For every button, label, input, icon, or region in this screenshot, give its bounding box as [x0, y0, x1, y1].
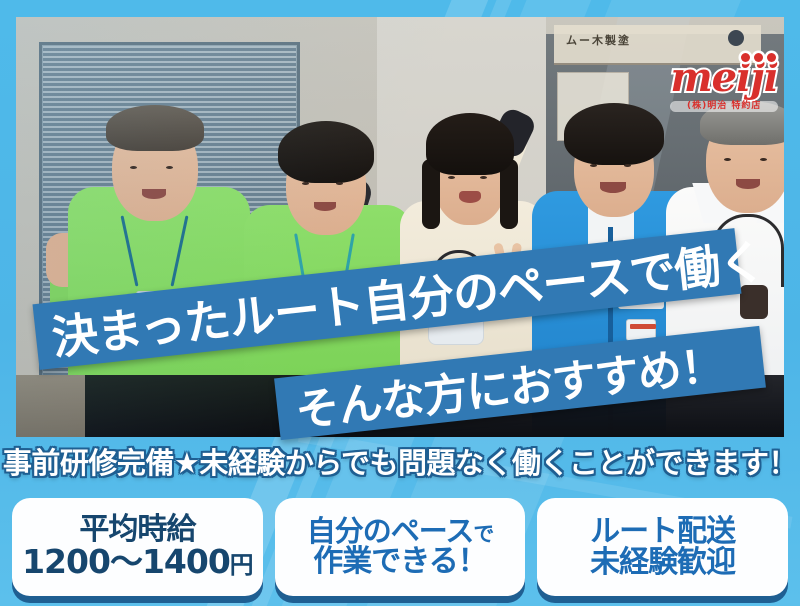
person-4-eye	[624, 164, 631, 167]
person-1-eye	[166, 166, 173, 169]
feature-card-route-line2: 未経験歓迎	[590, 547, 735, 578]
person-3-eye	[480, 176, 487, 179]
person-4-hair	[564, 103, 664, 165]
ground-patch	[16, 375, 85, 437]
own-pace-main: 自分のペース	[307, 514, 474, 548]
feature-card-route-line1: ルート配送	[590, 516, 735, 547]
person-2-mouth	[314, 202, 336, 211]
person-5-mouth	[736, 179, 760, 189]
wage-unit: 円	[230, 551, 253, 579]
recruitment-ad-banner: ムー木製塗	[0, 0, 800, 606]
person-3-hair	[426, 113, 514, 175]
person-1-eye	[130, 166, 137, 169]
feature-card-route-delivery[interactable]: ルート配送 未経験歓迎	[537, 498, 788, 596]
feature-card-wage-line1: 平均時給	[79, 514, 195, 545]
own-pace-suffix: で	[473, 522, 493, 546]
feature-card-own-pace[interactable]: 自分のペースで 作業できる！	[275, 498, 526, 596]
feature-card-wage-line2: 1200〜1400円	[22, 545, 252, 579]
person-5-eye	[724, 158, 731, 161]
person-4-mouth	[600, 182, 626, 193]
feature-cards: 平均時給 1200〜1400円 自分のペースで 作業できる！ ルート配送 未経験…	[12, 498, 788, 596]
person-5-hair	[700, 101, 784, 145]
person-2-eye	[336, 182, 343, 185]
person-4-eye	[590, 164, 597, 167]
person-3-eye	[448, 176, 455, 179]
person-1-hair	[106, 105, 204, 151]
caption-strip: 事前研修完備★未経験からでも問題なく働くことができます！	[0, 440, 800, 482]
person-1-mouth	[142, 189, 166, 199]
feature-card-own-pace-line1: 自分のペースで	[307, 516, 493, 546]
person-2-eye	[302, 182, 309, 185]
person-3-mouth	[459, 191, 481, 203]
feature-card-own-pace-line2: 作業できる！	[313, 546, 486, 577]
feature-card-wage[interactable]: 平均時給 1200〜1400円	[12, 498, 263, 596]
person-2-hair	[278, 121, 374, 183]
wage-range: 1200〜1400	[22, 542, 230, 581]
person-5-eye	[760, 158, 767, 161]
